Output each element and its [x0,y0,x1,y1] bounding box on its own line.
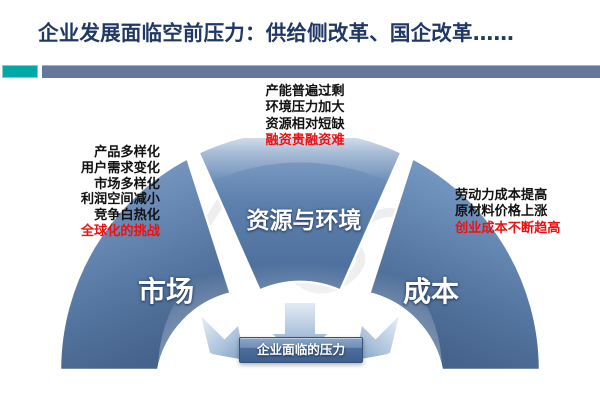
pressure-list-cost: 劳动力成本提高 原材料价格上涨 创业成本不断趋高 [455,188,600,237]
list-item: 用户需求变化 [20,161,160,177]
center-summary-box[interactable]: 企业面临的压力 [239,337,363,363]
arch-label-market: 市场 [107,270,225,310]
divider-blue-bar [42,65,600,78]
pressure-list-resource: 产能普遍过剩 环境压力加大 资源相对短缺 融资贵融资难 [225,84,385,150]
arch-label-resource: 资源与环境 [218,201,390,235]
divider-teal-block [2,65,38,78]
list-item: 利润空间减小 [20,192,160,208]
title-divider [0,64,600,80]
arch-label-cost: 成本 [372,270,490,310]
list-item-highlight: 全球化的挑战 [20,224,160,240]
list-item: 市场多样化 [20,177,160,193]
list-item: 原材料价格上涨 [455,204,600,220]
list-item: 资源相对短缺 [225,117,385,133]
list-item: 劳动力成本提高 [455,188,600,204]
list-item-highlight: 融资贵融资难 [225,133,385,149]
slide-canvas: 企业发展面临空前压力：供给侧改革、国企改革…… [0,0,600,415]
page-title: 企业发展面临空前压力：供给侧改革、国企改革…… [38,17,578,49]
list-item: 竞争白热化 [20,208,160,224]
list-item: 产能普遍过剩 [225,84,385,100]
list-item-highlight: 创业成本不断趋高 [455,221,600,237]
list-item: 环境压力加大 [225,100,385,116]
pressure-list-market: 产品多样化 用户需求变化 市场多样化 利润空间减小 竞争白热化 全球化的挑战 [20,145,160,240]
list-item: 产品多样化 [20,145,160,161]
center-summary-label: 企业面临的压力 [240,338,362,362]
